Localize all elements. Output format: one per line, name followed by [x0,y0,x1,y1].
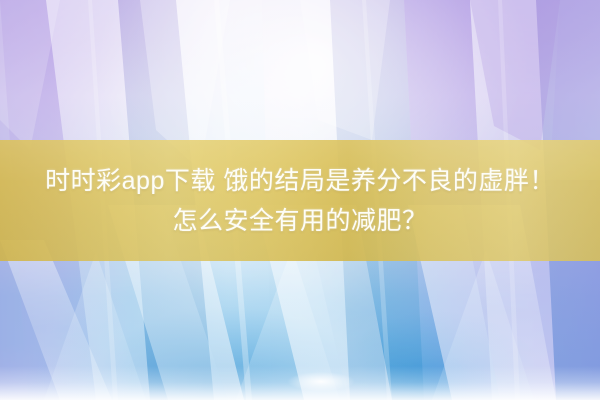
banner-image: 时时彩app下载 饿的结局是养分不良的虚胖！ 怎么安全有用的减肥？ [0,0,600,400]
title-band: 时时彩app下载 饿的结局是养分不良的虚胖！ 怎么安全有用的减肥？ [0,140,600,261]
title-line-2: 怎么安全有用的减肥？ [172,201,427,241]
title-line-1: 时时彩app下载 饿的结局是养分不良的虚胖！ [45,161,555,201]
